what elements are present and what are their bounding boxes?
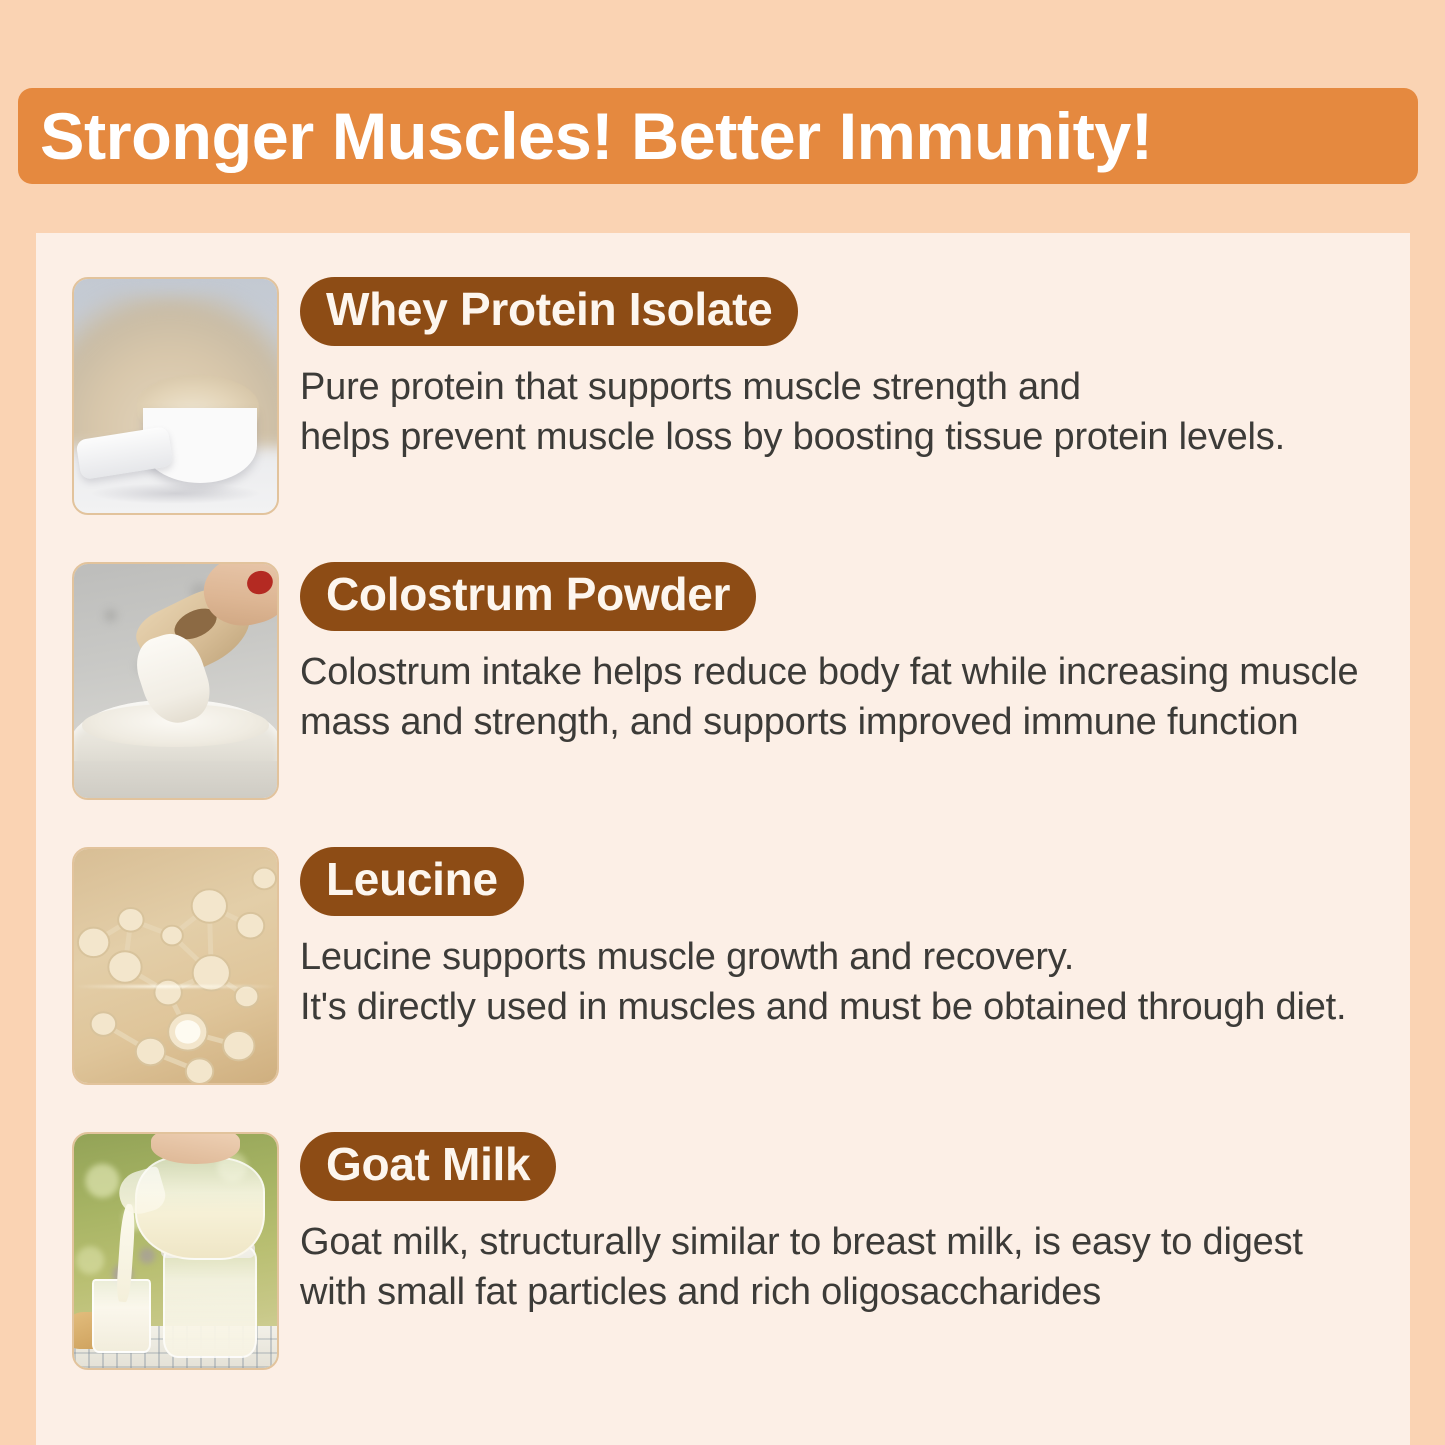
ingredient-description: Leucine supports muscle growth and recov…: [300, 932, 1404, 1032]
whey-protein-powder-scoop-image: [74, 279, 277, 513]
ingredient-description: Pure protein that supports muscle streng…: [300, 362, 1404, 462]
ingredient-row: Whey Protein Isolate Pure protein that s…: [36, 277, 1410, 515]
header-banner: Stronger Muscles! Better Immunity!: [18, 88, 1418, 184]
whey-protein-powder-scoop-photo: [72, 277, 279, 515]
colostrum-powder-image: [74, 564, 277, 798]
goat-milk-pouring-jug-glass-photo: [72, 1132, 279, 1370]
leucine-molecule-structure-illustration: [72, 847, 279, 1085]
leucine-molecule-image: [74, 849, 277, 1083]
goat-milk-image: [74, 1134, 277, 1368]
infographic-page: Stronger Muscles! Better Immunity! Whey …: [0, 0, 1445, 1445]
ingredient-name-badge: Whey Protein Isolate: [300, 277, 798, 346]
ingredient-row: Leucine Leucine supports muscle growth a…: [36, 847, 1410, 1085]
ingredient-description: Colostrum intake helps reduce body fat w…: [300, 647, 1404, 747]
ingredient-text-block: Colostrum Powder Colostrum intake helps …: [300, 562, 1404, 747]
ingredient-text-block: Goat Milk Goat milk, structurally simila…: [300, 1132, 1404, 1317]
page-title: Stronger Muscles! Better Immunity!: [40, 103, 1153, 169]
colostrum-powder-wooden-scoop-photo: [72, 562, 279, 800]
ingredient-name-badge: Colostrum Powder: [300, 562, 756, 631]
molecule-diagram-icon: [74, 849, 277, 1083]
ingredient-name-badge: Goat Milk: [300, 1132, 556, 1201]
ingredient-description: Goat milk, structurally similar to breas…: [300, 1217, 1404, 1317]
ingredient-text-block: Leucine Leucine supports muscle growth a…: [300, 847, 1404, 1032]
ingredients-panel: Whey Protein Isolate Pure protein that s…: [36, 233, 1410, 1445]
ingredient-row: Colostrum Powder Colostrum intake helps …: [36, 562, 1410, 800]
milk-jar-shape: [163, 1246, 256, 1358]
ingredient-name-badge: Leucine: [300, 847, 524, 916]
scoop-shadow-shape: [90, 483, 261, 504]
ingredient-row: Goat Milk Goat milk, structurally simila…: [36, 1132, 1410, 1370]
highlight-line-shape: [74, 985, 277, 988]
ingredient-text-block: Whey Protein Isolate Pure protein that s…: [300, 277, 1404, 462]
dish-base-shape: [74, 761, 277, 798]
